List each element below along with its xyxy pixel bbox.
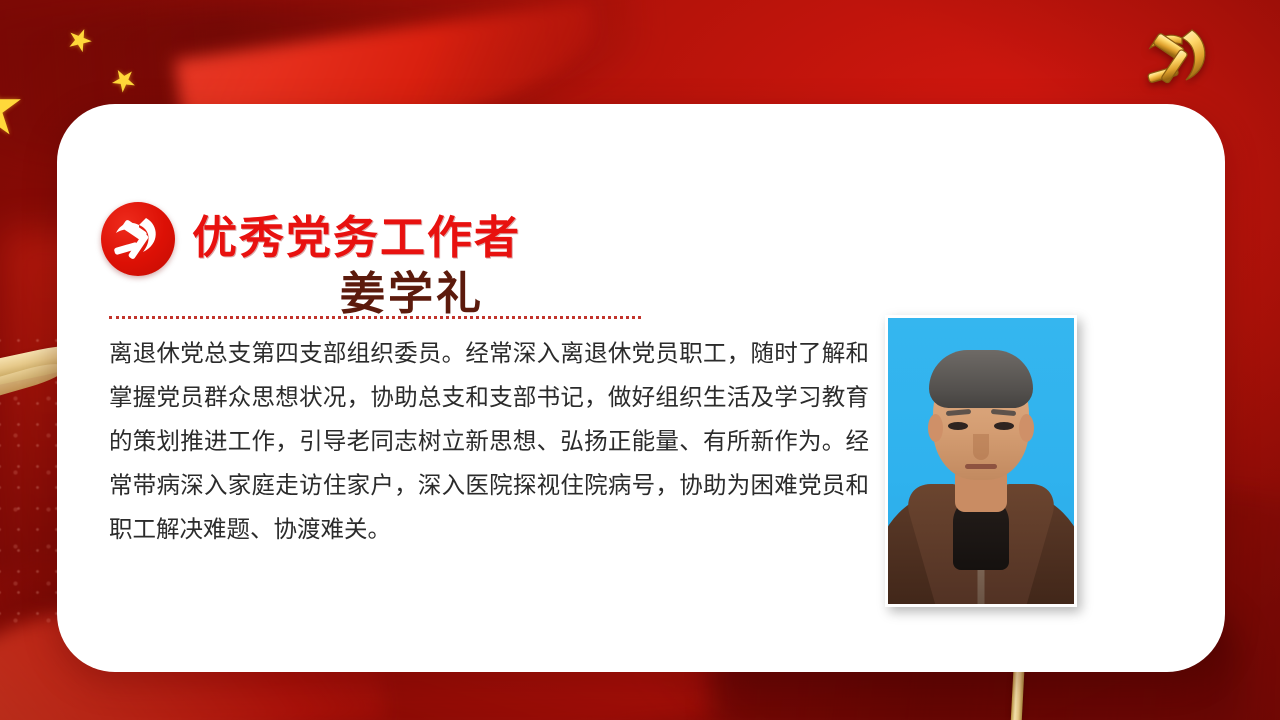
content-card: 优秀党务工作者 姜学礼 离退休党总支第四支部组织委员。经常深入离退休党员职工，随… [57,104,1225,672]
portrait-nose [973,434,989,460]
flag-star-large: ★ [0,68,26,146]
flag-star-small-2: ★ [103,61,143,101]
portrait-photo [885,315,1077,607]
portrait-hair [929,350,1033,408]
divider-dotted [109,316,641,319]
portrait-eye-right [994,422,1014,430]
person-name: 姜学礼 [340,257,484,322]
slide-root: ★ ★ ★ ★ ★ [0,0,1280,720]
description-paragraph: 离退休党总支第四支部组织委员。经常深入离退休党员职工，随时了解和掌握党员群众思想… [109,331,869,551]
party-emblem-gold-icon [1130,18,1224,102]
portrait-ear-right [1019,414,1034,442]
party-emblem-badge-icon [101,202,175,276]
portrait-eye-left [948,422,968,430]
portrait-ear-left [928,414,943,442]
portrait-photo-image [888,318,1074,604]
portrait-mouth [965,464,997,469]
flag-star-small-1: ★ [61,22,97,60]
description-text: 离退休党总支第四支部组织委员。经常深入离退休党员职工，随时了解和掌握党员群众思想… [109,331,869,551]
